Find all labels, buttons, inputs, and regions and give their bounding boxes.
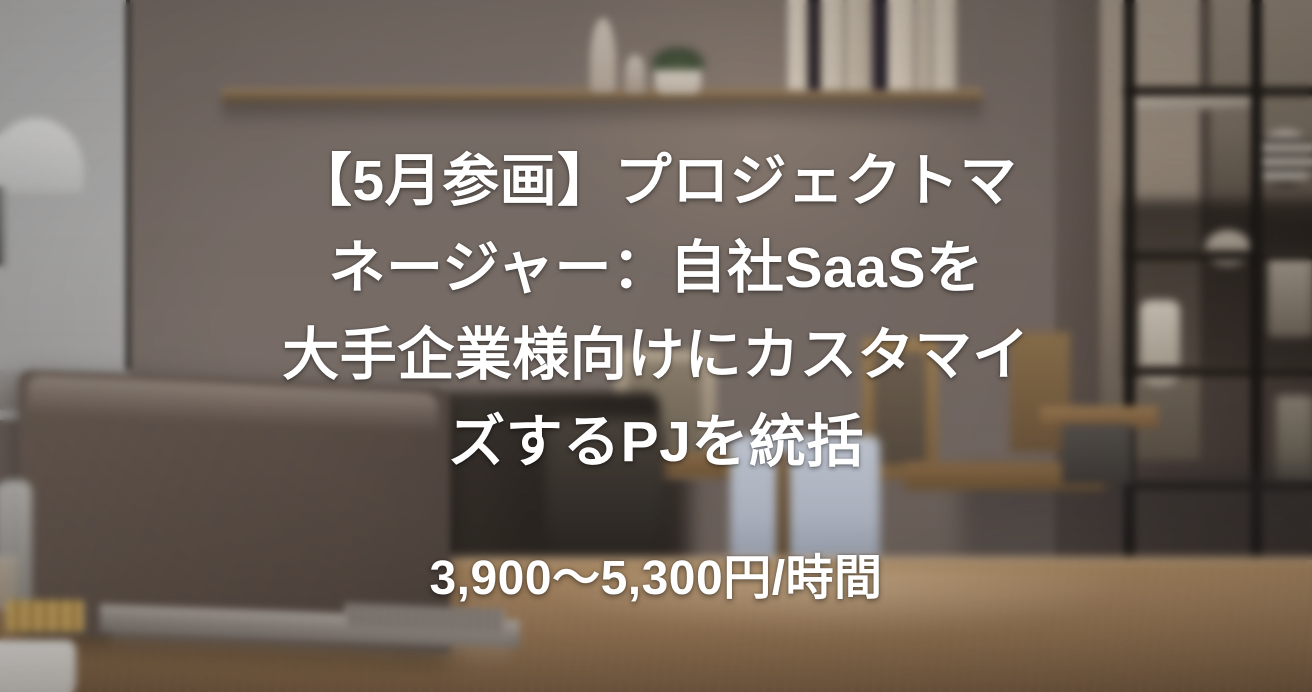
shelf-book xyxy=(846,0,870,90)
shelf-book xyxy=(934,0,956,90)
job-title-line-4: ズするPJを統括 xyxy=(150,399,1162,486)
plant-leaves xyxy=(650,46,706,70)
coffee-mug xyxy=(0,640,76,692)
wall-shelf-shadow xyxy=(222,100,982,126)
shelf-book xyxy=(888,0,914,90)
job-title-line-3: 大手企業様向けにカスタマイ xyxy=(150,312,1162,399)
shelving-unit-rail xyxy=(1124,86,1312,96)
hourly-rate: 3,900〜5,300円/時間 xyxy=(0,551,1312,607)
shelf-book xyxy=(788,0,808,90)
shelf-vase-small xyxy=(625,55,645,93)
shelf-book xyxy=(822,0,844,90)
shelf-book xyxy=(808,0,820,90)
job-posting-banner: 【5月参画】プロジェクトマ ネージャー：自社SaaSを 大手企業様向けにカスタマ… xyxy=(0,0,1312,692)
shelf-book xyxy=(874,0,888,90)
job-title-line-1: 【5月参画】プロジェクトマ xyxy=(150,138,1162,225)
shelf-book xyxy=(916,0,934,90)
job-title-line-2: ネージャー：自社SaaSを xyxy=(150,225,1162,312)
job-title: 【5月参画】プロジェクトマ ネージャー：自社SaaSを 大手企業様向けにカスタマ… xyxy=(0,138,1312,486)
